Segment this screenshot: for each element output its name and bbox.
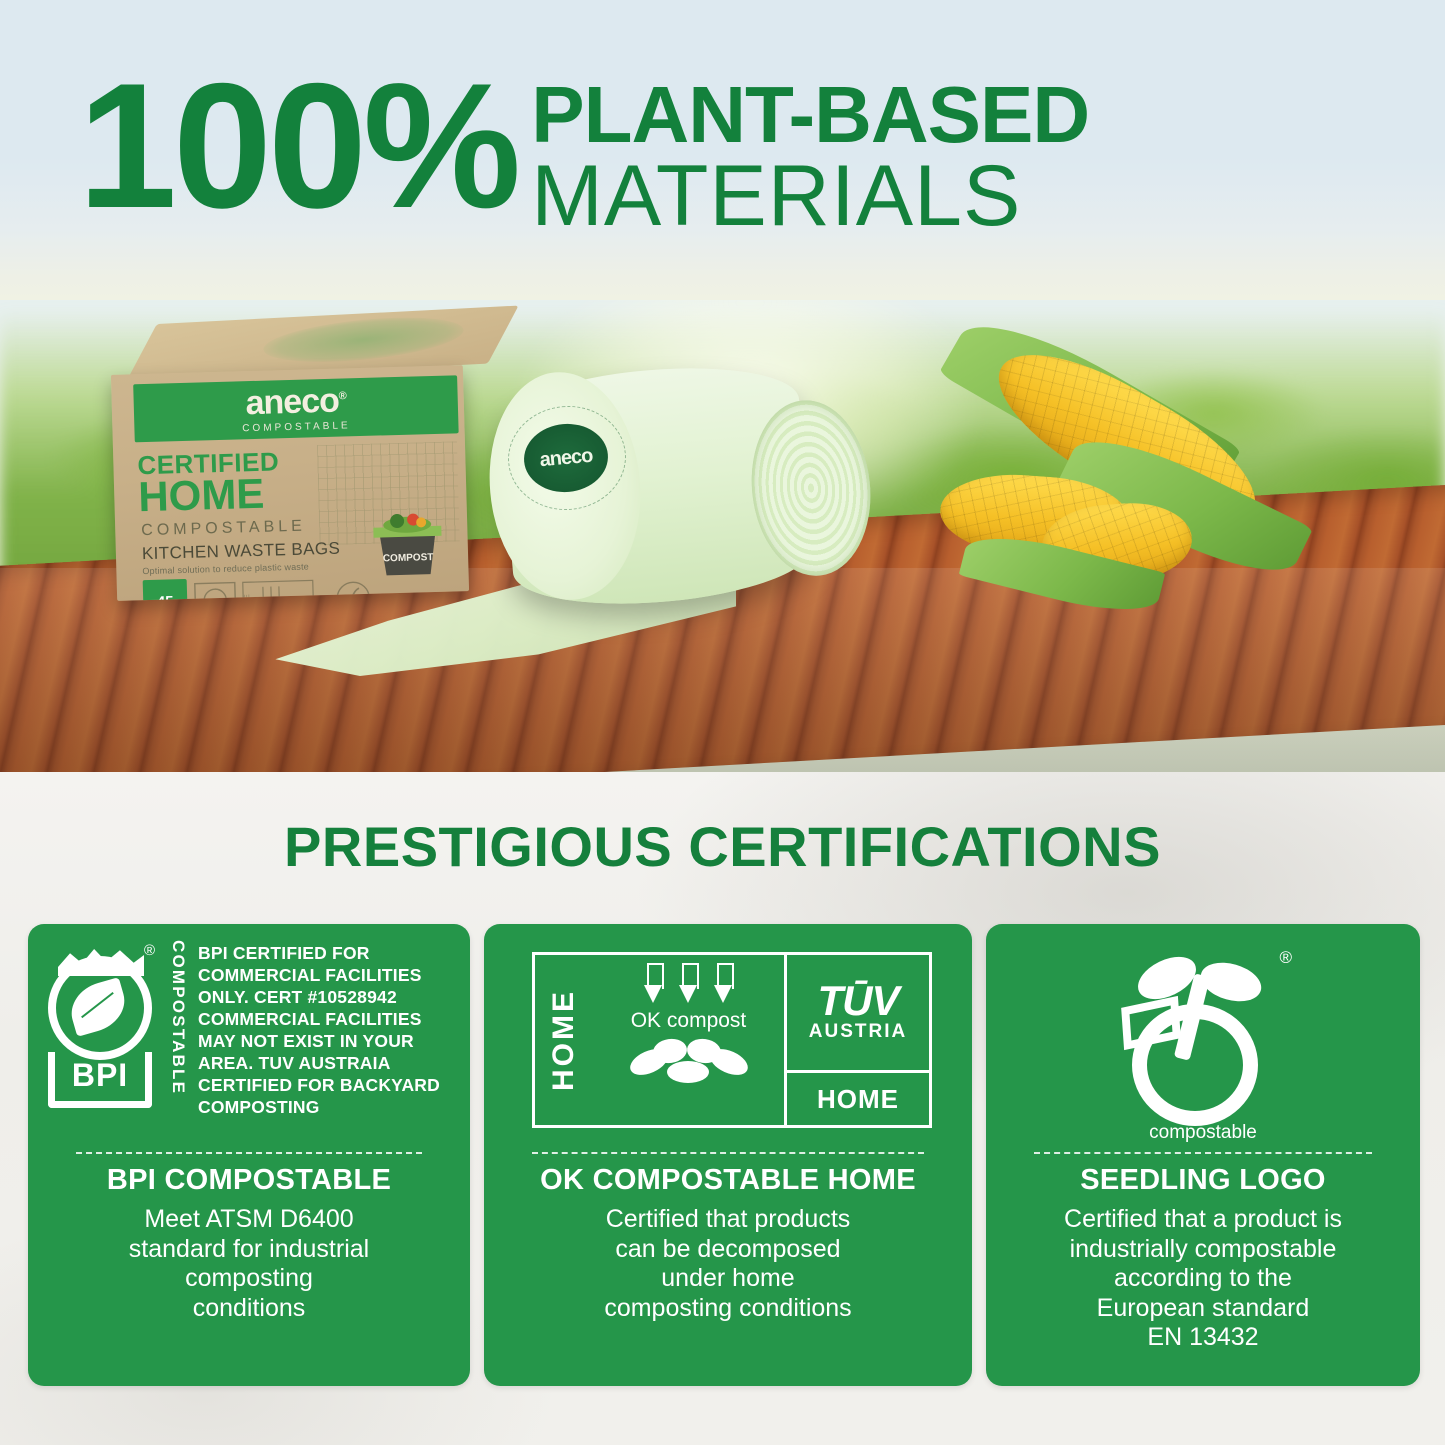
hero-banner: 100% PLANT-BASED MATERIALS bbox=[0, 0, 1445, 302]
bpi-certification-body: BPI CERTIFIED FOR COMMERCIAL FACILITIES … bbox=[198, 940, 440, 1118]
card-title-seedling: SEEDLING LOGO bbox=[1000, 1164, 1406, 1197]
card-divider bbox=[1034, 1152, 1372, 1154]
certification-card-ok-compost-home[interactable]: HOME OK compost bbox=[484, 924, 972, 1386]
headline-lines: PLANT-BASED MATERIALS bbox=[531, 72, 1089, 238]
roll-brand-text: aneco bbox=[539, 444, 594, 472]
section-title: PRESTIGIOUS CERTIFICATIONS bbox=[0, 814, 1445, 879]
box-count-value: 45 bbox=[157, 594, 174, 601]
bpi-logo-icon: BPI ® bbox=[42, 940, 160, 1108]
box-brand-band: aneco® COMPOSTABLE bbox=[133, 375, 458, 442]
tuv-logo-cell: TŪV AUSTRIA bbox=[787, 955, 929, 1073]
bpi-vertical-label: COMPOSTABLE bbox=[168, 940, 188, 1108]
certification-card-bpi[interactable]: BPI ® COMPOSTABLE BPI CERTIFIED FOR COMM… bbox=[28, 924, 470, 1386]
card-divider bbox=[532, 1152, 924, 1154]
seedling-logo-icon: ® compostable bbox=[1108, 948, 1298, 1144]
registered-icon: ® bbox=[1279, 948, 1292, 968]
card-description-ok-compost: Certified that products can be decompose… bbox=[498, 1205, 958, 1323]
box-top-logo-oval bbox=[244, 313, 483, 366]
seedling-leaf-right-icon bbox=[1196, 956, 1266, 1008]
tuv-austria-label: AUSTRIA bbox=[809, 1021, 907, 1043]
box-count-badge: 45 Count bbox=[143, 579, 188, 601]
ok-compost-label: OK compost bbox=[631, 1009, 747, 1033]
bpi-mark-box: BPI bbox=[48, 1052, 152, 1108]
registered-icon: ® bbox=[144, 942, 155, 959]
box-front-face: aneco® COMPOSTABLE CERTIFIED HOME COMPOS… bbox=[111, 365, 469, 601]
registered-icon: ® bbox=[339, 390, 346, 402]
box-tagline: Optimal solution to reduce plastic waste bbox=[142, 562, 309, 577]
box-product-name: KITCHEN WASTE BAGS bbox=[142, 539, 341, 565]
tuv-home-vertical-label: HOME bbox=[535, 955, 593, 1125]
box-compost-pot-illustration: COMPOST bbox=[361, 505, 455, 580]
box-compostable-text: COMPOSTABLE bbox=[141, 518, 306, 541]
certifications-section: PRESTIGIOUS CERTIFICATIONS BPI ® COMPOST… bbox=[0, 772, 1445, 1445]
product-box: aneco® COMPOSTABLE CERTIFIED HOME COMPOS… bbox=[108, 324, 480, 624]
bpi-leaf-crown-icon bbox=[58, 946, 144, 976]
percent-value: 100% bbox=[78, 68, 517, 225]
certification-card-seedling[interactable]: ® compostable SEEDLING LOGO Certified th… bbox=[986, 924, 1420, 1386]
box-brand-text: aneco bbox=[245, 382, 339, 423]
down-arrows-icon bbox=[644, 963, 733, 1005]
box-volume-badge: 2.6 Gallon bbox=[143, 599, 188, 601]
tuv-home-cell: HOME bbox=[787, 1073, 929, 1125]
seedling-logo-area: ® compostable bbox=[1000, 940, 1406, 1152]
bpi-logo-area: BPI ® COMPOSTABLE BPI CERTIFIED FOR COMM… bbox=[42, 940, 456, 1152]
card-title-ok-compost: OK COMPOSTABLE HOME bbox=[498, 1164, 958, 1197]
flower-icon bbox=[629, 1037, 749, 1083]
box-brand-name: aneco® bbox=[245, 383, 346, 420]
card-description-bpi: Meet ATSM D6400 standard for industrial … bbox=[42, 1205, 456, 1323]
box-home-text: HOME bbox=[138, 473, 265, 519]
bpi-mark-text: BPI bbox=[72, 1057, 128, 1094]
card-title-bpi: BPI COMPOSTABLE bbox=[42, 1164, 456, 1197]
headline: 100% PLANT-BASED MATERIALS bbox=[78, 72, 1378, 262]
tuv-wordmark: TŪV bbox=[818, 982, 899, 1020]
headline-line-2: MATERIALS bbox=[531, 154, 1089, 238]
card-divider bbox=[76, 1152, 422, 1154]
card-description-seedling: Certified that a product is industrially… bbox=[1000, 1205, 1406, 1353]
ok-compost-home-logo-icon: HOME OK compost bbox=[532, 952, 932, 1128]
svg-text:HOME: HOME bbox=[244, 594, 252, 601]
tuv-compost-panel: OK compost bbox=[593, 955, 784, 1125]
tuv-right-panel: TŪV AUSTRIA HOME bbox=[787, 955, 929, 1125]
corn-cobs bbox=[930, 358, 1390, 648]
tuv-logo-area: HOME OK compost bbox=[498, 940, 958, 1152]
compostable-bag-roll: aneco bbox=[486, 360, 886, 660]
box-brand-subtitle: COMPOSTABLE bbox=[242, 420, 351, 434]
certification-cards: BPI ® COMPOSTABLE BPI CERTIFIED FOR COMM… bbox=[28, 924, 1420, 1386]
product-photo-band: aneco® COMPOSTABLE CERTIFIED HOME COMPOS… bbox=[0, 300, 1445, 774]
seedling-logo-caption: compostable bbox=[1108, 1122, 1298, 1144]
tuv-home-label: HOME bbox=[817, 1084, 899, 1115]
tuv-left-panel: HOME OK compost bbox=[535, 955, 787, 1125]
headline-line-1: PLANT-BASED bbox=[531, 78, 1089, 152]
box-compost-label: COMPOST bbox=[383, 552, 434, 564]
product-infographic: 100% PLANT-BASED MATERIALS aneco® COMPOS… bbox=[0, 0, 1445, 1445]
